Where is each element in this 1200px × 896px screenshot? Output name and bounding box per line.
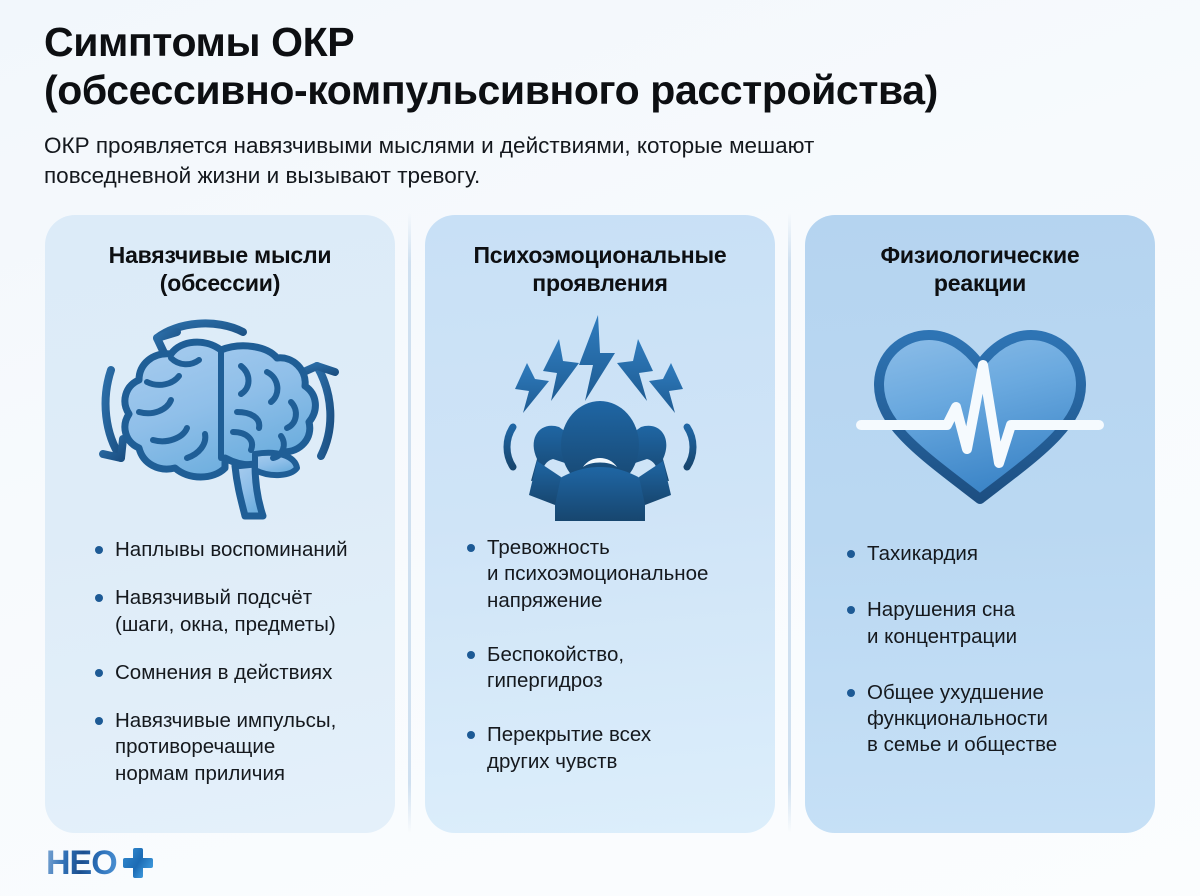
card-psychoemotional-title-line-2: проявления bbox=[451, 269, 749, 297]
list-item: Навязчивые импульсы, противоречащие норм… bbox=[91, 708, 369, 787]
card-divider-1 bbox=[395, 215, 425, 833]
card-physiological-icon-wrap bbox=[831, 299, 1129, 531]
brand-logo: НЕО bbox=[46, 846, 153, 880]
card-obsessions-title: Навязчивые мысли (обсессии) bbox=[71, 241, 369, 297]
list-item: Беспокойство, гипергидроз bbox=[463, 642, 749, 694]
card-physiological-title-line-2: реакции bbox=[831, 269, 1129, 297]
list-item: Перекрытие всех других чувств bbox=[463, 722, 749, 774]
card-physiological-title-line-1: Физиологические bbox=[831, 241, 1129, 269]
stressed-person-icon bbox=[475, 309, 725, 521]
infographic-page: Симптомы ОКР (обсессивно-компульсивного … bbox=[0, 0, 1200, 896]
card-physiological-title: Физиологические реакции bbox=[831, 241, 1129, 297]
card-divider-2 bbox=[775, 215, 805, 833]
card-obsessions-bullets: Наплывы воспоминаний Навязчивый подсчёт … bbox=[71, 537, 369, 813]
bullet-dot-icon bbox=[95, 669, 103, 677]
brain-cycle-icon bbox=[95, 308, 345, 523]
page-subtitle-line-2: повседневной жизни и вызывают тревогу. bbox=[44, 161, 1074, 191]
list-item: Общее ухудшение функциональности в семье… bbox=[843, 680, 1129, 759]
card-physiological-bullets: Тахикардия Нарушения сна и концентрации … bbox=[831, 541, 1129, 813]
page-subtitle-line-1: ОКР проявляется навязчивыми мыслями и де… bbox=[44, 131, 1074, 161]
list-item: Нарушения сна и концентрации bbox=[843, 597, 1129, 649]
page-title: Симптомы ОКР (обсессивно-компульсивного … bbox=[44, 18, 1164, 115]
card-obsessions-icon-wrap bbox=[71, 299, 369, 531]
list-item: Тревожность и психоэмоциональное напряже… bbox=[463, 535, 749, 614]
bullet-dot-icon bbox=[467, 544, 475, 552]
header: Симптомы ОКР (обсессивно-компульсивного … bbox=[44, 18, 1164, 191]
divider-line bbox=[788, 213, 791, 833]
plus-icon bbox=[123, 848, 153, 878]
page-title-line-2: (обсессивно-компульсивного расстройства) bbox=[44, 66, 1164, 114]
bullet-dot-icon bbox=[467, 651, 475, 659]
symptom-cards: Навязчивые мысли (обсессии) bbox=[45, 215, 1155, 833]
bullet-dot-icon bbox=[847, 606, 855, 614]
bullet-dot-icon bbox=[847, 550, 855, 558]
card-psychoemotional-icon-wrap bbox=[451, 299, 749, 531]
card-physiological: Физиологические реакции bbox=[805, 215, 1155, 833]
card-obsessions: Навязчивые мысли (обсессии) bbox=[45, 215, 395, 833]
list-item: Навязчивый подсчёт (шаги, окна, предметы… bbox=[91, 585, 369, 637]
bullet-dot-icon bbox=[95, 546, 103, 554]
list-item: Тахикардия bbox=[843, 541, 1129, 567]
brand-logo-text: НЕО bbox=[46, 846, 117, 880]
divider-line bbox=[408, 213, 411, 833]
bullet-dot-icon bbox=[847, 689, 855, 697]
card-psychoemotional: Психоэмоциональные проявления bbox=[425, 215, 775, 833]
card-psychoemotional-title: Психоэмоциональные проявления bbox=[451, 241, 749, 297]
list-item: Наплывы воспоминаний bbox=[91, 537, 369, 563]
bullet-dot-icon bbox=[95, 717, 103, 725]
page-subtitle: ОКР проявляется навязчивыми мыслями и де… bbox=[44, 131, 1074, 191]
list-item: Сомнения в действиях bbox=[91, 660, 369, 686]
card-obsessions-title-line-2: (обсессии) bbox=[71, 269, 369, 297]
bullet-dot-icon bbox=[467, 731, 475, 739]
heart-pulse-icon bbox=[855, 313, 1105, 518]
card-psychoemotional-bullets: Тревожность и психоэмоциональное напряже… bbox=[451, 535, 749, 813]
card-psychoemotional-title-line-1: Психоэмоциональные bbox=[451, 241, 749, 269]
card-obsessions-title-line-1: Навязчивые мысли bbox=[71, 241, 369, 269]
bullet-dot-icon bbox=[95, 594, 103, 602]
page-title-line-1: Симптомы ОКР bbox=[44, 18, 1164, 66]
